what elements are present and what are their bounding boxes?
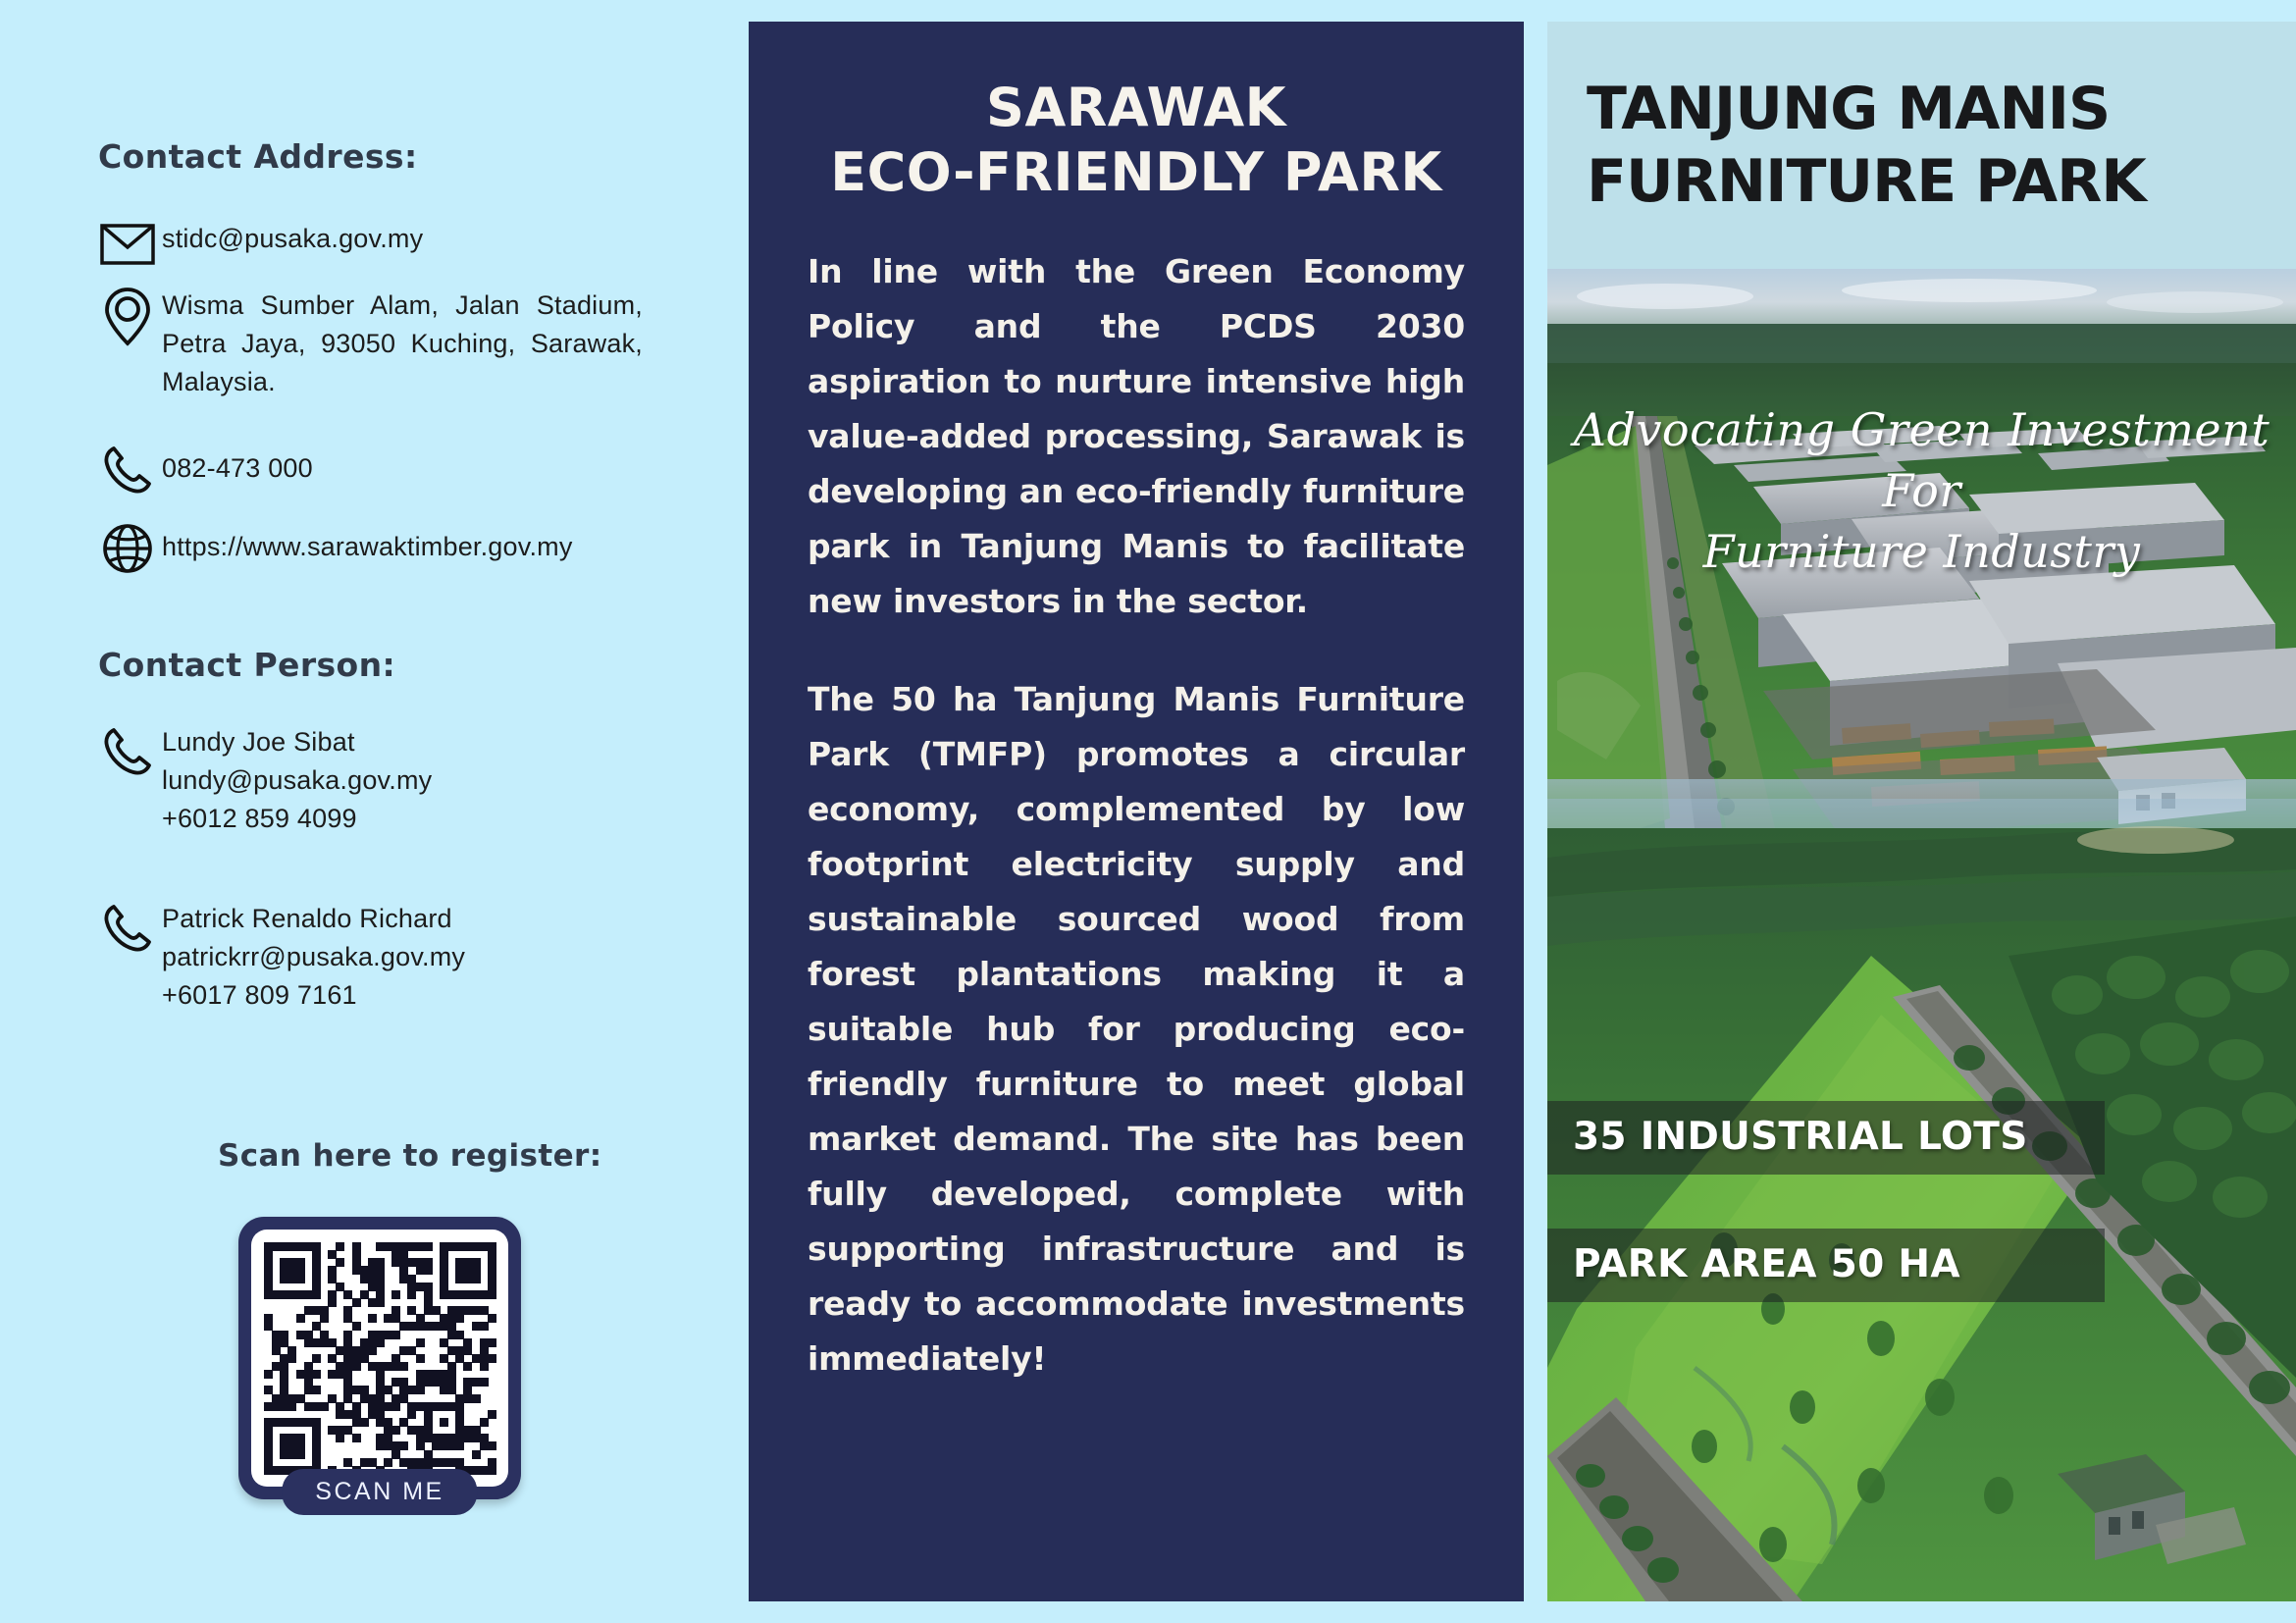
right-title-line-1: TANJUNG MANIS — [1587, 75, 2110, 143]
phone-icon — [93, 721, 162, 782]
center-content-panel: SARAWAK ECO-FRIENDLY PARK In line with t… — [749, 22, 1524, 1601]
office-phone-text: 082-473 000 — [162, 440, 313, 488]
aerial-photo — [1547, 269, 2296, 1601]
phone-icon — [93, 440, 162, 500]
person-1-email: lundy@pusaka.gov.my — [162, 761, 432, 800]
scan-here-heading: Scan here to register: — [218, 1138, 602, 1174]
person-2-name: Patrick Renaldo Richard — [162, 900, 465, 938]
postal-address-text: Wisma Sumber Alam, Jalan Stadium, Petra … — [162, 287, 643, 401]
qr-inner — [251, 1230, 508, 1487]
contact-person-1[interactable]: Lundy Joe Sibat lundy@pusaka.gov.my +601… — [93, 721, 741, 838]
globe-icon — [93, 518, 162, 579]
contact-row-address: Wisma Sumber Alam, Jalan Stadium, Petra … — [93, 287, 702, 401]
person-1-phone: +6012 859 4099 — [162, 800, 432, 838]
contact-person-heading: Contact Person: — [98, 646, 395, 684]
qr-code[interactable]: SCAN ME — [238, 1217, 521, 1499]
email-address-text: stidc@pusaka.gov.my — [162, 214, 423, 258]
person-1-name: Lundy Joe Sibat — [162, 723, 432, 761]
right-hero-panel: TANJUNG MANIS FURNITURE PARK — [1547, 22, 2296, 1601]
contact-row-website[interactable]: https://www.sarawaktimber.gov.my — [93, 518, 741, 579]
envelope-icon — [93, 214, 162, 275]
location-pin-icon — [93, 287, 162, 347]
brochure-page: Contact Address: stidc@pusaka.gov.my Wis… — [0, 0, 2296, 1623]
contact-address-heading: Contact Address: — [98, 137, 418, 176]
badge-industrial-lots: 35 INDUSTRIAL LOTS — [1547, 1101, 2105, 1175]
left-contact-panel: Contact Address: stidc@pusaka.gov.my Wis… — [0, 0, 749, 1623]
center-paragraph-1: In line with the Green Economy Policy an… — [808, 244, 1465, 629]
center-title-line-1: SARAWAK — [986, 77, 1286, 138]
scan-me-label: SCAN ME — [282, 1469, 477, 1515]
qr-modules — [264, 1242, 496, 1474]
contact-person-2[interactable]: Patrick Renaldo Richard patrickrr@pusaka… — [93, 898, 741, 1015]
center-paragraph-2: The 50 ha Tanjung Manis Furniture Park (… — [808, 672, 1465, 1387]
phone-icon — [93, 898, 162, 959]
person-2-phone: +6017 809 7161 — [162, 976, 465, 1015]
person-2-email: patrickrr@pusaka.gov.my — [162, 938, 465, 976]
website-url-text: https://www.sarawaktimber.gov.my — [162, 518, 573, 566]
right-title-line-2: FURNITURE PARK — [1587, 145, 2273, 218]
center-title-line-2: ECO-FRIENDLY PARK — [808, 140, 1465, 205]
contact-row-email[interactable]: stidc@pusaka.gov.my — [93, 214, 682, 275]
badge-park-area: PARK AREA 50 HA — [1547, 1229, 2105, 1302]
right-panel-title: TANJUNG MANIS FURNITURE PARK — [1587, 73, 2273, 218]
center-panel-title: SARAWAK ECO-FRIENDLY PARK — [808, 76, 1465, 205]
contact-row-phone[interactable]: 082-473 000 — [93, 440, 682, 500]
